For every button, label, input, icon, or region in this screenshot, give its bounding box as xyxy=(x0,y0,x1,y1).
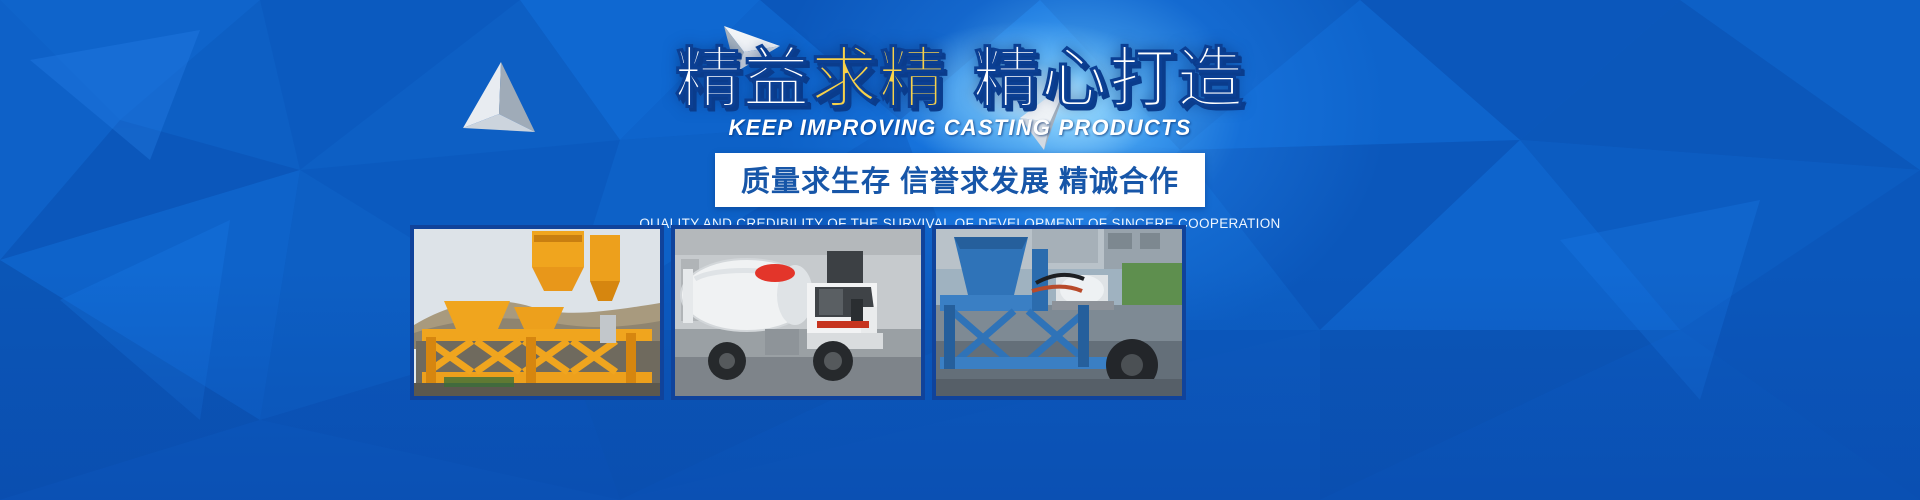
photo-concrete-batching-plant xyxy=(410,225,664,400)
page-title: 精益求精精心打造 xyxy=(0,44,1920,113)
photo-strip xyxy=(410,225,1186,400)
headline-part-2-gold: 求精 xyxy=(811,41,947,115)
slogan-text: 质量求生存 信誉求发展 精诚合作 xyxy=(741,158,1179,200)
batching-plant-illustration xyxy=(414,229,660,396)
photo-blue-mixing-equipment xyxy=(932,225,1186,400)
photo-concrete-mixer-truck xyxy=(671,225,925,400)
blue-equipment-illustration xyxy=(936,229,1182,396)
slogan-bar: 质量求生存 信誉求发展 精诚合作 xyxy=(715,153,1205,207)
banner-copy: 精益求精精心打造 KEEP IMPROVING CASTING PRODUCTS… xyxy=(0,44,1920,231)
headline-part-1: 精益 xyxy=(675,41,811,115)
headline-english-subtitle: KEEP IMPROVING CASTING PRODUCTS xyxy=(0,115,1920,141)
promo-banner: 精益求精精心打造 KEEP IMPROVING CASTING PRODUCTS… xyxy=(0,0,1920,500)
mixer-truck-illustration xyxy=(675,229,921,396)
headline-part-3: 精心打造 xyxy=(973,41,1245,115)
